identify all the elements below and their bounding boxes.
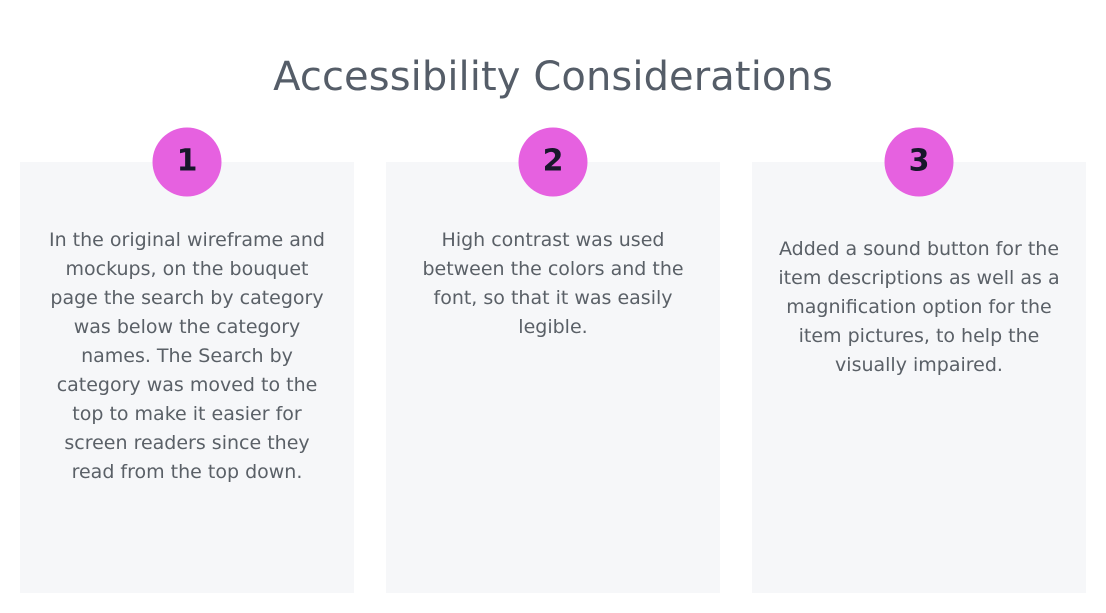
consideration-card-2: 2 High contrast was used between the col… bbox=[386, 162, 720, 593]
card-body-1: In the original wireframe and mockups, o… bbox=[20, 226, 354, 487]
consideration-card-1: 1 In the original wireframe and mockups,… bbox=[20, 162, 354, 593]
card-description: In the original wireframe and mockups, o… bbox=[42, 226, 332, 487]
slide-root: Accessibility Considerations 1 In the or… bbox=[0, 0, 1106, 613]
card-number-badge-1: 1 bbox=[153, 128, 222, 197]
card-number-label: 1 bbox=[177, 146, 198, 176]
consideration-card-3: 3 Added a sound button for the item desc… bbox=[752, 162, 1086, 593]
card-description: High contrast was used between the color… bbox=[408, 226, 698, 342]
card-number-label: 2 bbox=[543, 146, 564, 176]
card-number-label: 3 bbox=[909, 146, 930, 176]
consideration-card-list: 1 In the original wireframe and mockups,… bbox=[20, 162, 1086, 593]
card-body-2: High contrast was used between the color… bbox=[386, 226, 720, 342]
page-title: Accessibility Considerations bbox=[0, 53, 1106, 101]
card-description: Added a sound button for the item descri… bbox=[774, 235, 1064, 380]
card-number-badge-2: 2 bbox=[519, 128, 588, 197]
card-body-3: Added a sound button for the item descri… bbox=[752, 235, 1086, 380]
card-number-badge-3: 3 bbox=[885, 128, 954, 197]
